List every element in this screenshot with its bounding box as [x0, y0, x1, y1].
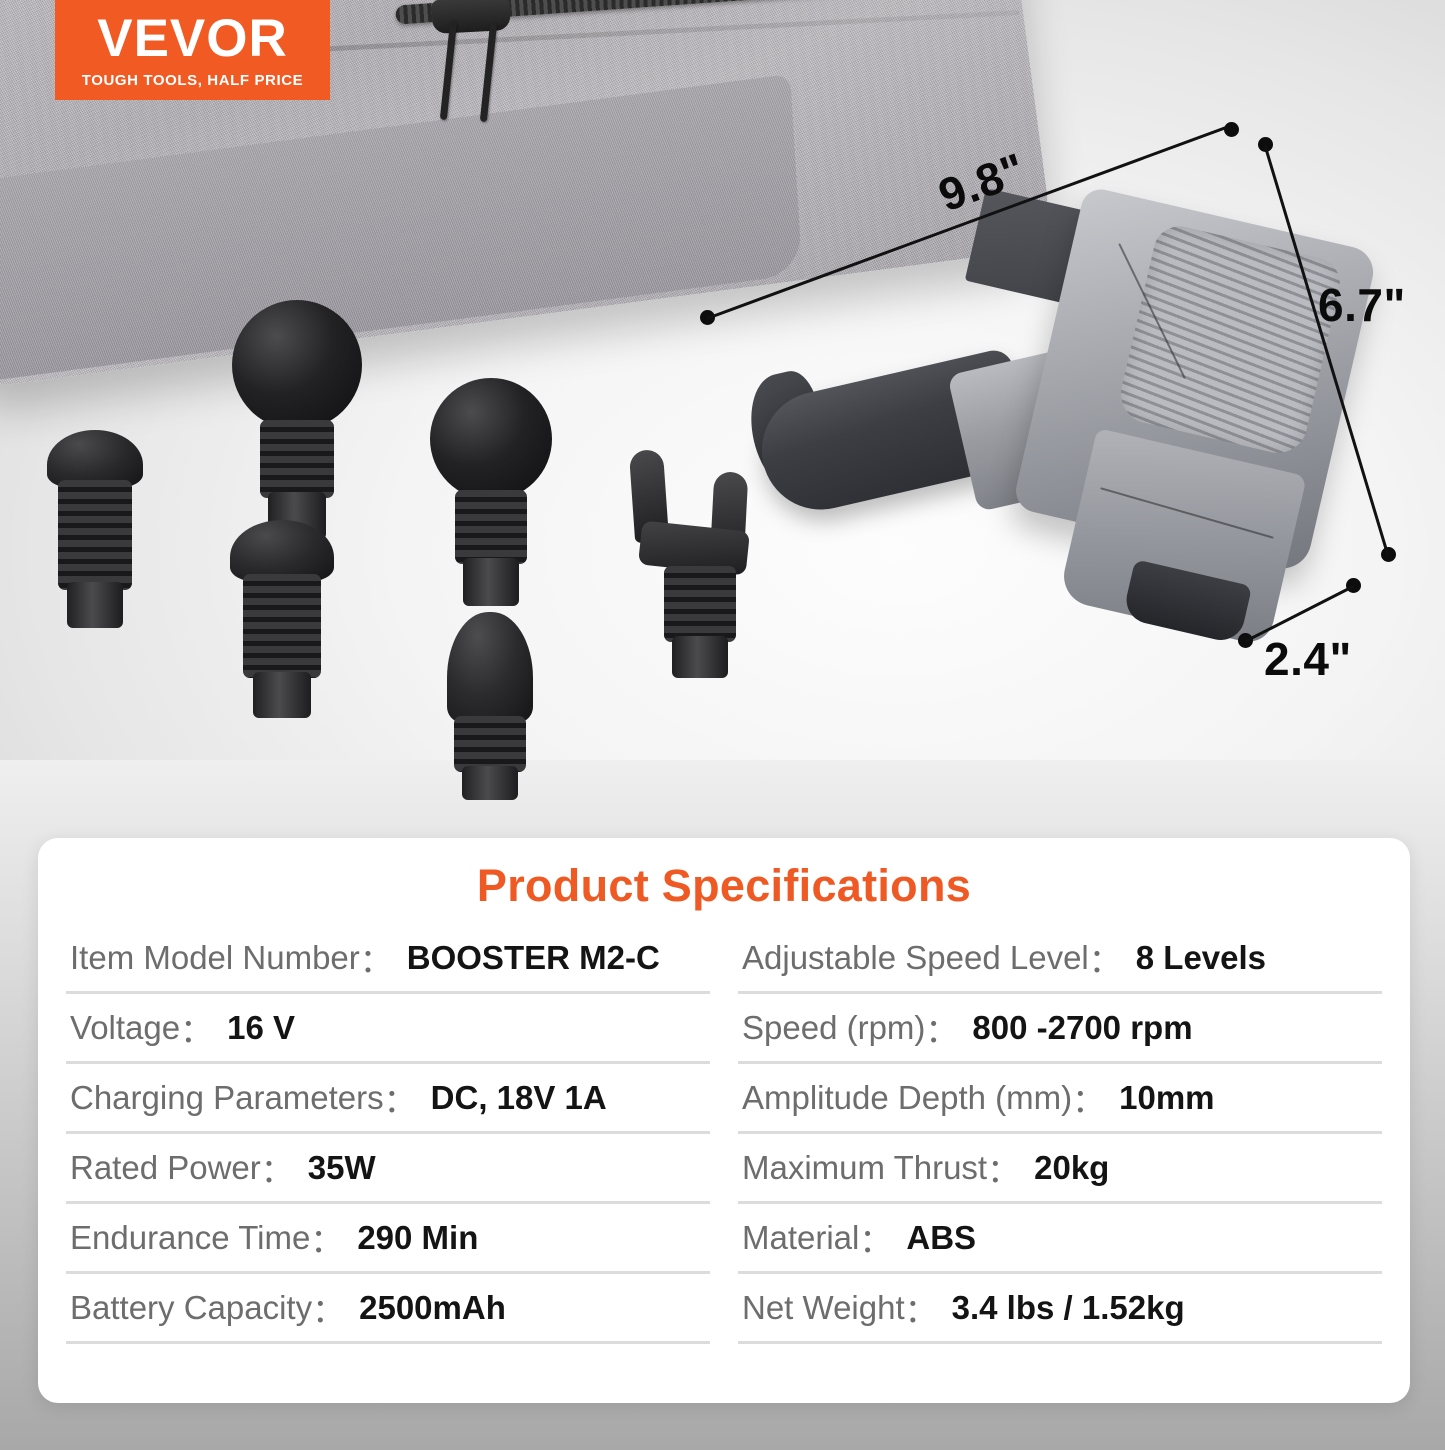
- spec-row: Battery Capacity：2500mAh: [66, 1274, 710, 1344]
- spec-label: Maximum Thrust: [742, 1149, 987, 1187]
- spec-row: Amplitude Depth (mm)：10mm: [738, 1064, 1382, 1134]
- spec-column-right: Adjustable Speed Level：8 LevelsSpeed (rp…: [738, 924, 1382, 1344]
- attachment-stem: [260, 420, 334, 498]
- spec-value: 290 Min: [357, 1219, 478, 1257]
- spec-row: Item Model Number：BOOSTER M2-C: [66, 924, 710, 994]
- attachment-stem: [664, 566, 736, 642]
- spec-value: 800 -2700 rpm: [972, 1009, 1192, 1047]
- flat-cone-attachment: [212, 520, 352, 720]
- spec-colon: ：: [180, 1004, 213, 1052]
- ball-head-tip: [232, 300, 362, 430]
- spec-row: Endurance Time：290 Min: [66, 1204, 710, 1274]
- spec-grid: Item Model Number：BOOSTER M2-CVoltage：16…: [66, 924, 1382, 1344]
- attachment-stem: [58, 480, 132, 590]
- spec-colon: ：: [261, 1144, 294, 1192]
- spec-row: Net Weight：3.4 lbs / 1.52kg: [738, 1274, 1382, 1344]
- spec-row: Maximum Thrust：20kg: [738, 1134, 1382, 1204]
- spec-value: 35W: [308, 1149, 376, 1187]
- spec-colon: ：: [859, 1214, 892, 1262]
- attachment-collar: [253, 672, 311, 718]
- spec-colon: ：: [310, 1214, 343, 1262]
- spec-colon: ：: [987, 1144, 1020, 1192]
- spec-label: Item Model Number: [70, 939, 360, 977]
- spec-label: Charging Parameters: [70, 1079, 384, 1117]
- attachment-stem: [454, 716, 526, 772]
- spec-label: Net Weight: [742, 1289, 905, 1327]
- spec-value: 16 V: [227, 1009, 295, 1047]
- spec-row: Voltage：16 V: [66, 994, 710, 1064]
- spec-row: Rated Power：35W: [66, 1134, 710, 1204]
- dim-depth-label: 2.4": [1264, 632, 1352, 686]
- ball-head-attachment-2: [418, 378, 563, 613]
- spec-label: Amplitude Depth (mm): [742, 1079, 1072, 1117]
- spec-title: Product Specifications: [66, 860, 1382, 912]
- spec-label: Endurance Time: [70, 1219, 310, 1257]
- zipper-slider: [431, 0, 511, 34]
- spec-row: Material：ABS: [738, 1204, 1382, 1274]
- spec-value: 2500mAh: [359, 1289, 506, 1327]
- brand-logo-text: VEVOR: [97, 12, 288, 65]
- spec-colon: ：: [925, 1004, 958, 1052]
- spec-colon: ：: [312, 1284, 345, 1332]
- bullet-head-tip: [447, 612, 533, 722]
- spec-label: Speed (rpm): [742, 1009, 925, 1047]
- ball-head-attachment: [222, 300, 372, 545]
- spec-colon: ：: [360, 934, 393, 982]
- spec-value: 20kg: [1034, 1149, 1109, 1187]
- spec-value: BOOSTER M2-C: [407, 939, 660, 977]
- fork-head-attachment: [620, 440, 780, 685]
- spec-label: Material: [742, 1219, 859, 1257]
- bullet-head-attachment: [425, 612, 555, 797]
- spec-colon: ：: [384, 1074, 417, 1122]
- attachment-stem: [455, 490, 527, 564]
- spec-colon: ：: [1072, 1074, 1105, 1122]
- attachment-collar: [463, 558, 519, 606]
- spec-value: 10mm: [1119, 1079, 1214, 1117]
- dim-length-endpoint-end: [1224, 122, 1239, 137]
- attachment-collar: [672, 636, 728, 678]
- spec-label: Battery Capacity: [70, 1289, 312, 1327]
- product-specifications-card: Product Specifications Item Model Number…: [38, 838, 1410, 1403]
- spec-row: Charging Parameters：DC, 18V 1A: [66, 1064, 710, 1134]
- brand-tagline: TOUGH TOOLS, HALF PRICE: [82, 72, 304, 89]
- spec-label: Rated Power: [70, 1149, 261, 1187]
- ball-head-tip: [430, 378, 552, 500]
- flat-cone-tip: [230, 520, 334, 582]
- spec-colon: ：: [1089, 934, 1122, 982]
- spec-column-left: Item Model Number：BOOSTER M2-CVoltage：16…: [66, 924, 710, 1344]
- dim-height-label: 6.7": [1318, 278, 1406, 332]
- spec-label: Adjustable Speed Level: [742, 939, 1089, 977]
- spec-row: Speed (rpm)：800 -2700 rpm: [738, 994, 1382, 1064]
- flat-head-attachment: [35, 430, 155, 640]
- spec-colon: ：: [905, 1284, 938, 1332]
- spec-label: Voltage: [70, 1009, 180, 1047]
- spec-value: DC, 18V 1A: [431, 1079, 607, 1117]
- spec-value: 8 Levels: [1136, 939, 1266, 977]
- attachment-stem: [243, 574, 321, 678]
- attachment-collar: [67, 582, 123, 628]
- brand-logo: VEVOR TOUGH TOOLS, HALF PRICE: [55, 0, 330, 100]
- spec-row: Adjustable Speed Level：8 Levels: [738, 924, 1382, 994]
- attachment-collar: [462, 766, 518, 800]
- spec-value: ABS: [906, 1219, 976, 1257]
- massage-gun: [745, 120, 1405, 660]
- spec-value: 3.4 lbs / 1.52kg: [952, 1289, 1185, 1327]
